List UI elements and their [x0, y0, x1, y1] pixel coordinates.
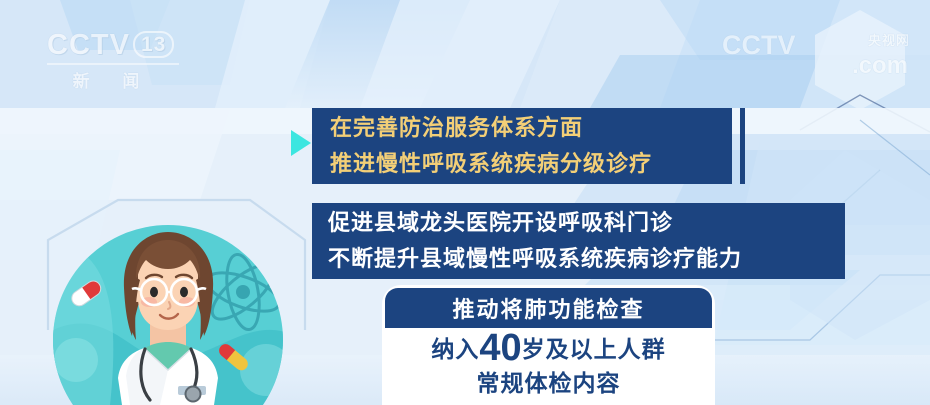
female-doctor-illustration	[18, 210, 318, 405]
cctv-com-watermark: CCTV 央视网 .com	[722, 30, 912, 82]
atom-nucleus	[236, 285, 250, 299]
card-3-header-text: 推动将肺功能检查	[452, 292, 644, 324]
doctor-svg	[18, 210, 318, 405]
headline-block-2: 促进县域龙头医院开设呼吸科门诊 不断提升县域慢性呼吸系统疾病诊疗能力	[312, 203, 845, 279]
headline-block-1: 在完善防治服务体系方面 推进慢性呼吸系统疾病分级诊疗	[312, 108, 732, 184]
card-3-header: 推动将肺功能检查	[385, 288, 712, 328]
block-1-accent-bar	[740, 108, 745, 184]
eye	[150, 287, 158, 297]
block-1-triangle-marker	[291, 130, 311, 156]
card-3-body: 纳入40岁及以上人群 常规体检内容	[385, 328, 712, 400]
channel-subtitle: 新 闻	[47, 67, 179, 92]
cctv13-logo-row: CCTV13	[47, 28, 179, 62]
logo-underline	[47, 63, 179, 65]
deco-circle	[240, 344, 292, 396]
card-3-body-line-1: 纳入40岁及以上人群	[385, 331, 712, 366]
eye	[180, 287, 188, 297]
card-3-age-number: 40	[479, 327, 521, 369]
cctv13-channel-logo: CCTV13 新 闻	[47, 28, 179, 90]
stethoscope-chestpiece	[186, 387, 201, 402]
headline-card-3: 推动将肺功能检查 纳入40岁及以上人群 常规体检内容	[385, 288, 712, 405]
watermark-chinese: 央视网	[868, 30, 910, 49]
block-1-line-2: 推进慢性呼吸系统疾病分级诊疗	[330, 146, 732, 182]
block-2-line-1: 促进县域龙头医院开设呼吸科门诊	[328, 203, 845, 241]
card-3-suffix: 岁及以上人群	[522, 336, 666, 362]
watermark-suffix: .com	[852, 52, 908, 80]
card-3-body-line-2: 常规体检内容	[385, 366, 712, 400]
news-graphic-stage: CCTV13 新 闻 CCTV 央视网 .com	[0, 0, 930, 405]
deco-circle	[54, 338, 98, 382]
block-1-line-1: 在完善防治服务体系方面	[330, 108, 732, 146]
channel-number: 13	[133, 31, 174, 58]
cctv-wordmark: CCTV	[47, 29, 130, 61]
card-3-prefix: 纳入	[431, 336, 479, 362]
block-2-line-2: 不断提升县域慢性呼吸系统疾病诊疗能力	[328, 241, 845, 277]
